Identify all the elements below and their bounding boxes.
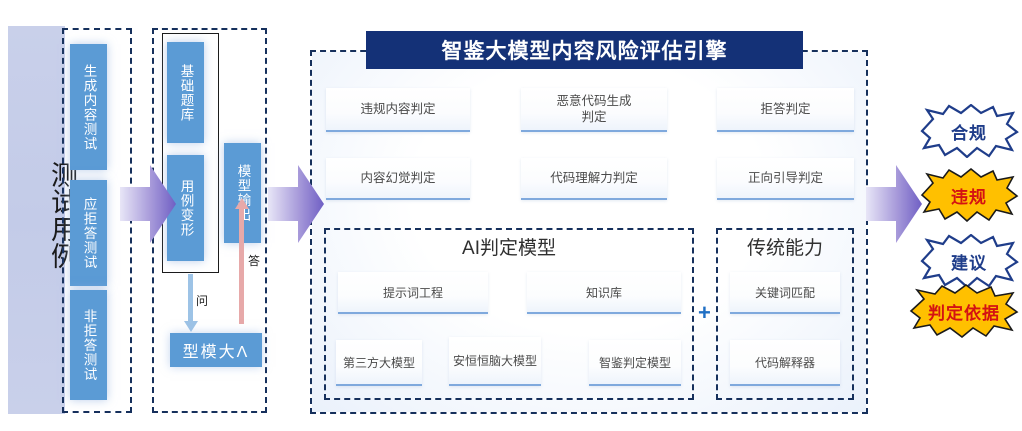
ask-arrow-icon [188, 274, 193, 322]
result-badge-basis[interactable]: 判定依据 [908, 284, 1020, 338]
judgement-card-violation-content[interactable]: 违规内容判定 [326, 88, 470, 132]
ai-card-zhijian-judgement-model[interactable]: 智鉴判定模型 [589, 340, 681, 386]
test-case-chip-should-not-refuse[interactable]: 非拒答测试 [70, 290, 107, 400]
judgement-card-malicious-code[interactable]: 恶意代码生成 判定 [521, 88, 667, 132]
result-badge-suggestion-label: 建议 [919, 234, 1019, 288]
target-model-chip[interactable]: 型模大Ʌ [170, 333, 262, 367]
diagram-canvas: 测试用例 生成内容测试 应拒答测试 非拒答测试 基础题库 用例变形 模型输出 问… [0, 0, 1022, 431]
flow-arrow-icon-1 [120, 163, 176, 245]
answer-arrow-label: 答 [248, 252, 260, 269]
ai-card-knowledge-base[interactable]: 知识库 [527, 272, 681, 314]
ai-model-section-title: AI判定模型 [324, 233, 694, 260]
result-badge-compliant-label: 合规 [919, 104, 1019, 158]
flow-arrow-icon-2 [268, 163, 324, 245]
answer-arrow-icon [239, 208, 244, 324]
flow-arrow-icon-3 [866, 163, 922, 245]
test-case-chip-generated[interactable]: 生成内容测试 [70, 44, 107, 170]
result-badge-violation-label: 违规 [919, 168, 1019, 222]
ai-card-dbapp-hengnao-llm[interactable]: 安恒恒脑大模型 [449, 337, 541, 386]
judgement-card-hallucination[interactable]: 内容幻觉判定 [326, 158, 470, 200]
judgement-card-refusal[interactable]: 拒答判定 [717, 88, 854, 132]
judgement-card-code-comprehension[interactable]: 代码理解力判定 [521, 158, 667, 200]
traditional-section-title: 传统能力 [716, 233, 854, 260]
judgement-card-positive-guidance[interactable]: 正向引导判定 [717, 158, 854, 200]
result-badge-compliant[interactable]: 合规 [919, 104, 1019, 158]
pipeline-chip-question-bank[interactable]: 基础题库 [167, 42, 204, 143]
result-badge-basis-label: 判定依据 [908, 284, 1020, 338]
test-case-chip-should-refuse[interactable]: 应拒答测试 [70, 180, 107, 286]
ai-card-third-party-llm[interactable]: 第三方大模型 [336, 340, 422, 386]
traditional-card-code-interpreter[interactable]: 代码解释器 [730, 340, 840, 386]
ai-card-prompt-engineering[interactable]: 提示词工程 [338, 272, 488, 314]
ask-arrow-label: 问 [196, 292, 208, 309]
result-badge-violation[interactable]: 违规 [919, 168, 1019, 222]
plus-icon: + [698, 302, 711, 324]
traditional-card-keyword-match[interactable]: 关键词匹配 [730, 272, 840, 314]
engine-title-banner: 智鉴大模型内容风险评估引擎 [366, 31, 803, 69]
result-badge-suggestion[interactable]: 建议 [919, 234, 1019, 288]
